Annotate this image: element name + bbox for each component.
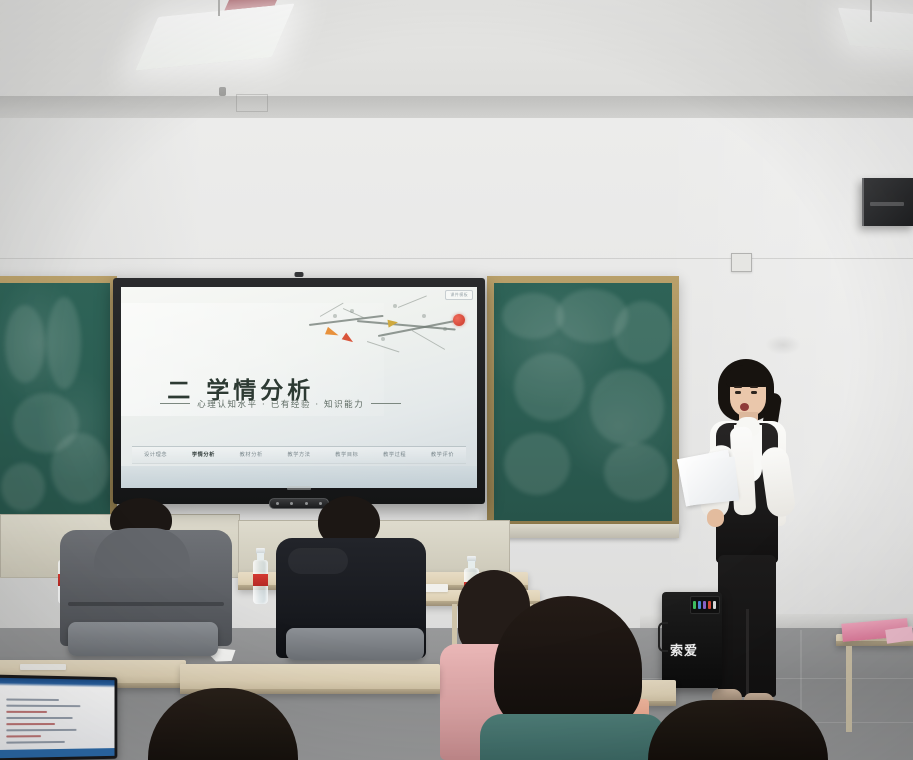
nav-item-4[interactable]: 教学目标 [323,451,371,458]
nav-item-6[interactable]: 教学评价 [419,451,467,458]
chair-suit-person[interactable] [286,628,424,660]
pa-led-blue-icon [698,601,701,609]
pa-led-red-icon [708,601,711,609]
doc-line-3 [6,711,47,713]
bottle-neck-2 [257,553,264,560]
wall-seam [0,258,913,259]
doc-line-2 [6,705,80,707]
red-seal-icon [453,314,465,326]
foreground-left-hair [148,688,298,760]
teacher-eye-left [735,391,741,394]
pa-speaker-handle[interactable] [658,622,668,652]
slide-section-nav[interactable]: 设计理念 学情分析 教材分析 教学方法 教学目标 教学过程 教学评价 [132,446,467,464]
nav-item-0[interactable]: 设计理念 [132,451,180,458]
classroom-scene: 课件模板 二 学情分析 心理认知水平 · 已有经验 · 知识能力 设计理念 学情… [0,0,913,760]
light-stem-right [870,0,872,22]
pa-speaker-brand: 索爱 [670,640,698,659]
chalkboard-left [0,276,117,528]
nav-item-1[interactable]: 学情分析 [179,451,227,458]
smartboard-screen[interactable]: 课件模板 二 学情分析 心理认知水平 · 已有经验 · 知识能力 设计理念 学情… [121,287,477,488]
slide-subtitle-row: 心理认知水平 · 已有经验 · 知识能力 [160,398,401,410]
suit-shoulder-highlight [288,548,348,574]
teacher-brow-left [734,386,742,388]
wall-mounted-speaker [862,178,913,226]
doc-line-5 [6,723,55,725]
bird-yellow-icon [387,318,398,327]
wall-smudge [765,335,801,355]
doc-line-4 [6,717,72,719]
teacher-trouser-seam [746,609,749,697]
desk-right-leg [846,646,852,732]
smartboard-logo [287,486,311,490]
ink-wash-artwork [299,293,470,361]
chalkboard-right [487,276,679,528]
bird-red-icon [342,333,356,346]
teacher-script-paper-front[interactable] [685,457,739,506]
chalkboard-right-surface [494,283,672,521]
hoodie-seam [68,602,224,606]
doc-line-7 [6,735,41,737]
pa-led-white-icon [713,601,716,609]
laptop-taskbar[interactable] [0,748,115,758]
foreground-person-teal-top [486,596,656,760]
subtitle-rule-left [160,403,190,404]
doc-line-1 [6,698,59,701]
presentation-slide: 课件模板 二 学情分析 心理认知水平 · 已有经验 · 知识能力 设计理念 学情… [121,287,477,488]
nav-item-5[interactable]: 教学过程 [371,451,419,458]
ceiling-sensor-icon [219,87,226,96]
foreground-person-left [148,688,298,760]
water-bottle-2[interactable] [253,548,268,604]
pa-speaker-control-panel[interactable] [690,596,720,614]
chair-hoodie-person[interactable] [68,622,218,656]
paper-on-desk-2[interactable] [20,664,66,670]
hoodie-hood [94,528,190,578]
nav-item-3[interactable]: 教学方法 [275,451,323,458]
interactive-smartboard[interactable]: 课件模板 二 学情分析 心理认知水平 · 已有经验 · 知识能力 设计理念 学情… [113,278,485,504]
slide-subtitle: 心理认知水平 · 已有经验 · 知识能力 [197,398,364,410]
teacher-eye-right [751,391,757,394]
foreground-person-right [648,700,828,760]
chalkboard-left-surface [0,283,110,521]
teacher-hair-front [726,365,770,387]
light-stem-left [218,0,220,16]
bottle-neck-3 [468,561,475,568]
pa-led-purple-icon [703,601,706,609]
smartboard-camera-icon [295,272,304,277]
foreground-shoulders [480,714,666,760]
slide-watermark: 课件模板 [445,290,473,300]
teacher-mouth [740,403,749,411]
laptop-screen[interactable] [0,675,117,760]
pa-led-green-icon [693,601,696,609]
foreground-right-hair [648,700,828,760]
open-laptop[interactable] [0,676,120,760]
subtitle-rule-right [371,403,401,404]
bird-orange-icon [325,326,340,338]
wall-outlet[interactable] [731,253,752,272]
doc-line-6 [6,729,76,731]
teacher-brow-right [750,386,758,388]
teacher-hand [707,509,724,527]
portable-pa-speaker[interactable]: 索爱 [662,592,722,688]
bottle-label-2 [253,574,268,586]
nav-item-2[interactable]: 教材分析 [227,451,275,458]
doc-line-8 [6,741,65,744]
slide-footer-band [121,466,477,488]
chalk-tray-right [487,524,679,538]
